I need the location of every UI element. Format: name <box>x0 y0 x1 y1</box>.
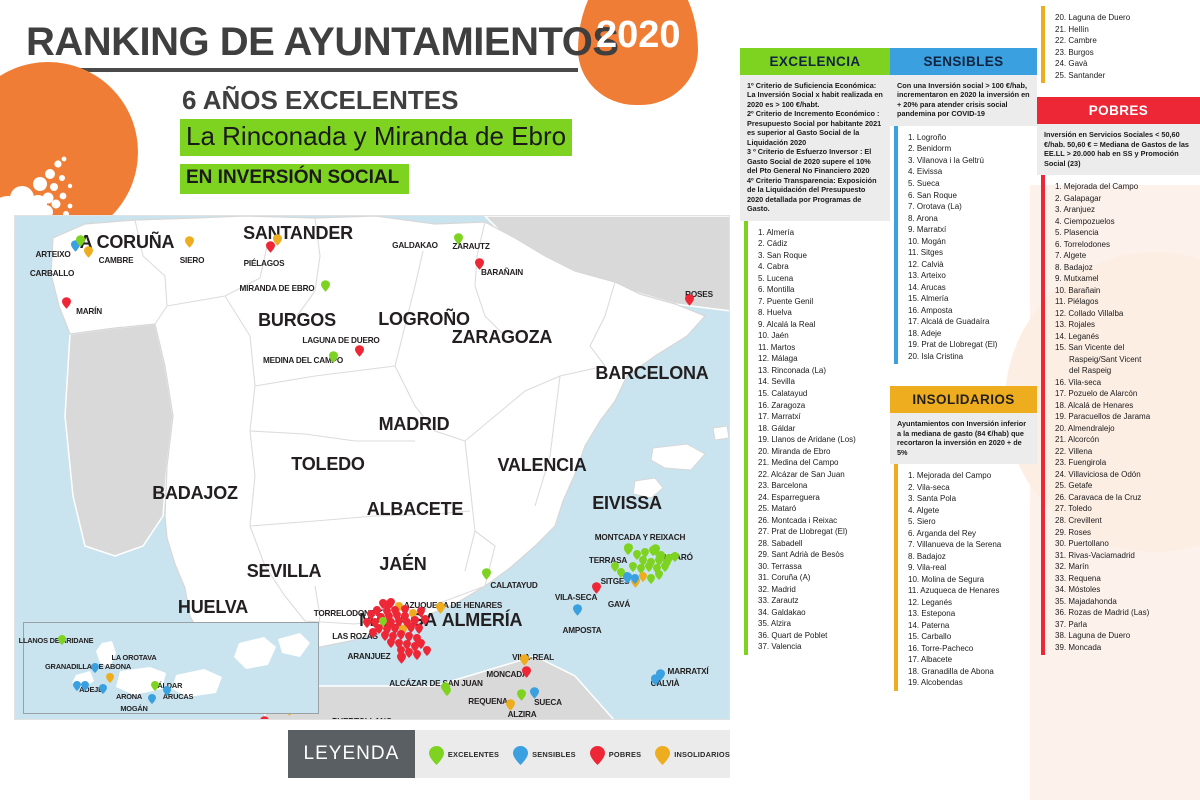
legend-label: EXCELENTES <box>448 750 499 759</box>
map-pin-puertollano <box>366 719 375 720</box>
legend-label: POBRES <box>609 750 641 759</box>
insolidarios-cont-item: 24. Gavà <box>1045 58 1200 70</box>
sensibles-desc-line-0: Con una Inversión social > 100 €/hab, in… <box>897 81 1030 119</box>
pobres-item: 24. Villaviciosa de Odón <box>1045 469 1200 481</box>
insolidarios-cont-item: 20. Laguna de Duero <box>1045 12 1200 24</box>
column-pobres: 20. Laguna de Duero21. Hellín22. Cambre2… <box>1037 0 1200 800</box>
pobres-item: 17. Pozuelo de Alarcón <box>1045 388 1200 400</box>
subtitle-winners: La Rinconada y Miranda de Ebro <box>180 119 572 156</box>
pobres-item: 12. Collado Villalba <box>1045 308 1200 320</box>
sensibles-item: 9. Marratxí <box>898 224 1037 236</box>
excelencia-item: 11. Martos <box>748 342 890 354</box>
excelencia-desc-line-1: 2º Criterio de Incremento Económico : Pr… <box>747 109 883 147</box>
excelencia-item: 28. Sabadell <box>748 538 890 550</box>
map-pin-icon <box>655 746 670 763</box>
pobres-item: 8. Badajoz <box>1045 262 1200 274</box>
insolidarios-item: 2. Vila-seca <box>898 482 1037 494</box>
insolidarios-item: 18. Granadilla de Abona <box>898 666 1037 678</box>
pobres-item: 7. Algete <box>1045 250 1200 262</box>
excelencia-item: 23. Barcelona <box>748 480 890 492</box>
insolidarios-item: 19. Alcobendas <box>898 677 1037 689</box>
excelencia-item: 29. Sant Adrià de Besòs <box>748 549 890 561</box>
excelencia-item: 12. Málaga <box>748 353 890 365</box>
excelencia-item: 25. Mataró <box>748 503 890 515</box>
year-label: 2020 <box>596 14 681 57</box>
canary-labels: LLANOS DE ARIDANEGRANADILLA DE ABONALA O… <box>15 216 730 720</box>
map-label-arona: ARONA <box>116 693 142 701</box>
insolidarios-item: 5. Siero <box>898 516 1037 528</box>
sensibles-item: 13. Arteixo <box>898 270 1037 282</box>
legend-item-insolidarios: INSOLIDARIOS <box>655 746 730 763</box>
sensibles-item: 8. Arona <box>898 213 1037 225</box>
insolidarios-item: 9. Vila-real <box>898 562 1037 574</box>
pobres-item: 9. Mutxamel <box>1045 273 1200 285</box>
pobres-header: POBRES <box>1037 97 1200 124</box>
pobres-item: 33. Requena <box>1045 573 1200 585</box>
insolidarios-item: 7. Villanueva de la Serena <box>898 539 1037 551</box>
excelencia-item: 26. Montcada i Reixac <box>748 515 890 527</box>
pobres-item: 16. Vila-seca <box>1045 377 1200 389</box>
excelencia-item: 30. Terrassa <box>748 561 890 573</box>
excelencia-item: 31. Coruña (A) <box>748 572 890 584</box>
sensibles-item: 3. Vilanova i la Geltrú <box>898 155 1037 167</box>
pobres-item: 35. Majadahonda <box>1045 596 1200 608</box>
insolidarios-item: 1. Mejorada del Campo <box>898 470 1037 482</box>
pobres-item: 29. Roses <box>1045 527 1200 539</box>
insolidarios-cont-item: 25. Santander <box>1045 70 1200 82</box>
title-underline <box>28 68 578 72</box>
sensibles-item: 20. Isla Cristina <box>898 351 1037 363</box>
column-sensibles: SENSIBLES Con una Inversión social > 100… <box>890 0 1037 800</box>
pobres-item: 27. Toledo <box>1045 503 1200 515</box>
legend-title: LEYENDA <box>288 730 415 778</box>
excelencia-item: 18. Gáldar <box>748 423 890 435</box>
map-pin-canary-1 <box>91 663 99 673</box>
insolidarios-cont-item: 21. Hellín <box>1045 24 1200 36</box>
excelencia-item: 27. Prat de Llobregat (El) <box>748 526 890 538</box>
map-pin-canary-4 <box>81 681 89 691</box>
legend-item-excelentes: EXCELENTES <box>429 746 499 763</box>
excelencia-item: 5. Lucena <box>748 273 890 285</box>
pobres-item: 37. Parla <box>1045 619 1200 631</box>
sensibles-list: 1. Logroño2. Benidorm3. Vilanova i la Ge… <box>894 126 1037 364</box>
excelencia-desc-line-3: 4º Criterio Transparencia: Exposición de… <box>747 176 883 214</box>
sensibles-item: 5. Sueca <box>898 178 1037 190</box>
excelencia-item: 2. Cádiz <box>748 238 890 250</box>
insolidarios-item: 14. Paterna <box>898 620 1037 632</box>
excelencia-item: 6. Montilla <box>748 284 890 296</box>
excelencia-item: 16. Zaragoza <box>748 400 890 412</box>
excelencia-item: 33. Zarautz <box>748 595 890 607</box>
insolidarios-item: 11. Azuqueca de Henares <box>898 585 1037 597</box>
insolidarios-desc-line-0: Ayuntamientos con Inversión inferior a l… <box>897 419 1030 457</box>
pobres-item: 21. Alcorcón <box>1045 434 1200 446</box>
insolidarios-list: 1. Mejorada del Campo2. Vila-seca3. Sant… <box>894 464 1037 691</box>
legend-label: SENSIBLES <box>532 750 576 759</box>
insolidarios-item: 4. Algete <box>898 505 1037 517</box>
sensibles-item: 1. Logroño <box>898 132 1037 144</box>
map-label-granadilla-de-abona: GRANADILLA DE ABONA <box>45 663 131 671</box>
pobres-item: 22. Villena <box>1045 446 1200 458</box>
sensibles-item: 14. Arucas <box>898 282 1037 294</box>
subtitle-topic: EN INVERSIÓN SOCIAL <box>180 164 409 194</box>
sensibles-item: 7. Orotava (La) <box>898 201 1037 213</box>
column-excelencia: EXCELENCIA 1º Criterio de Suficiencia Ec… <box>740 0 890 800</box>
map-label-la-orotava: LA OROTAVA <box>112 654 157 662</box>
pobres-item: 11. Piélagos <box>1045 296 1200 308</box>
excelencia-item: 20. Miranda de Ebro <box>748 446 890 458</box>
pobres-item: 6. Torrelodones <box>1045 239 1200 251</box>
excelencia-item: 8. Huelva <box>748 307 890 319</box>
legend-item-sensibles: SENSIBLES <box>513 746 576 763</box>
pobres-item: 31. Rivas-Vaciamadrid <box>1045 550 1200 562</box>
sensibles-item: 2. Benidorm <box>898 143 1037 155</box>
map-pin-icon <box>590 746 605 763</box>
page-title: RANKING DE AYUNTAMIENTOS <box>26 20 619 65</box>
excelencia-item: 3. San Roque <box>748 250 890 262</box>
map-pin-canary-5 <box>99 684 107 694</box>
excelencia-item: 10. Jaén <box>748 330 890 342</box>
sensibles-item: 12. Calvià <box>898 259 1037 271</box>
sensibles-item: 4. Eivissa <box>898 166 1037 178</box>
subtitle-years: 6 AÑOS EXCELENTES <box>182 85 458 116</box>
sensibles-item: 17. Alcalá de Guadaíra <box>898 316 1037 328</box>
pobres-item: 32. Marín <box>1045 561 1200 573</box>
pobres-item: 13. Rojales <box>1045 319 1200 331</box>
insolidarios-item: 3. Santa Pola <box>898 493 1037 505</box>
excelencia-item: 4. Cabra <box>748 261 890 273</box>
excelencia-desc-line-0: 1º Criterio de Suficiencia Económica: La… <box>747 81 883 109</box>
sensibles-item: 10. Mogán <box>898 236 1037 248</box>
sensibles-item: 18. Adeje <box>898 328 1037 340</box>
insolidarios-item: 8. Badajoz <box>898 551 1037 563</box>
insolidarios-cont-item: 22. Cambre <box>1045 35 1200 47</box>
insolidarios-list-continued: 20. Laguna de Duero21. Hellín22. Cambre2… <box>1041 6 1200 83</box>
insolidarios-description: Ayuntamientos con Inversión inferior a l… <box>890 413 1037 464</box>
pobres-item: 15. San Vicente del Raspeig/Sant Vicent … <box>1045 342 1200 377</box>
pobres-item: 4. Ciempozuelos <box>1045 216 1200 228</box>
pobres-item: 39. Moncada <box>1045 642 1200 654</box>
sensibles-item: 19. Prat de Llobregat (El) <box>898 339 1037 351</box>
pobres-item: 36. Rozas de Madrid (Las) <box>1045 607 1200 619</box>
map-legend: LEYENDA EXCELENTESSENSIBLESPOBRESINSOLID… <box>288 730 730 778</box>
excelencia-item: 17. Marratxí <box>748 411 890 423</box>
map-pin-canary-7 <box>163 686 171 696</box>
map-label-mog-n: MOGÁN <box>120 705 147 713</box>
sensibles-item: 6. San Roque <box>898 190 1037 202</box>
legend-item-pobres: POBRES <box>590 746 641 763</box>
pobres-item: 34. Móstoles <box>1045 584 1200 596</box>
excelencia-item: 13. Rinconada (La) <box>748 365 890 377</box>
map-pin-canary-2 <box>106 673 114 683</box>
excelencia-desc-line-2: 3 º Criterio de Esfuerzo Inversor : El G… <box>747 147 883 175</box>
sensibles-item: 11. Sitges <box>898 247 1037 259</box>
pobres-item: 20. Almendralejo <box>1045 423 1200 435</box>
excelencia-item: 32. Madrid <box>748 584 890 596</box>
pobres-item: 38. Laguna de Duero <box>1045 630 1200 642</box>
excelencia-item: 24. Esparreguera <box>748 492 890 504</box>
excelencia-description: 1º Criterio de Suficiencia Económica: La… <box>740 75 890 221</box>
map-pin-icon <box>513 746 528 763</box>
pobres-description: Inversión en Servicios Sociales < 50,60 … <box>1037 124 1200 175</box>
insolidarios-cont-item: 23. Burgos <box>1045 47 1200 59</box>
map-pin-canary-6 <box>151 681 159 691</box>
spain-map[interactable]: A CORUÑA SANTANDER BURGOS LOGROÑO ZARAGO… <box>14 215 730 720</box>
pobres-item: 30. Puertollano <box>1045 538 1200 550</box>
excelencia-item: 14. Sevilla <box>748 376 890 388</box>
pobres-item: 26. Caravaca de la Cruz <box>1045 492 1200 504</box>
pobres-item: 2. Galapagar <box>1045 193 1200 205</box>
sensibles-item: 16. Amposta <box>898 305 1037 317</box>
excelencia-item: 37. Valencia <box>748 641 890 653</box>
map-pin-canary-8 <box>148 694 156 704</box>
excelencia-item: 22. Alcázar de San Juan <box>748 469 890 481</box>
excelencia-header: EXCELENCIA <box>740 48 890 75</box>
insolidarios-item: 10. Molina de Segura <box>898 574 1037 586</box>
excelencia-item: 34. Galdakao <box>748 607 890 619</box>
pobres-desc-line-0: Inversión en Servicios Sociales < 50,60 … <box>1044 130 1193 168</box>
excelencia-item: 35. Alzira <box>748 618 890 630</box>
insolidarios-item: 16. Torre-Pacheco <box>898 643 1037 655</box>
pobres-item: 25. Getafe <box>1045 480 1200 492</box>
pobres-item: 23. Fuengirola <box>1045 457 1200 469</box>
insolidarios-item: 17. Albacete <box>898 654 1037 666</box>
pobres-item: 10. Barañain <box>1045 285 1200 297</box>
excelencia-item: 36. Quart de Poblet <box>748 630 890 642</box>
legend-items: EXCELENTESSENSIBLESPOBRESINSOLIDARIOS <box>415 746 730 763</box>
pobres-item: 18. Alcalá de Henares <box>1045 400 1200 412</box>
insolidarios-item: 6. Arganda del Rey <box>898 528 1037 540</box>
pobres-item: 5. Plasencia <box>1045 227 1200 239</box>
pobres-item: 3. Aranjuez <box>1045 204 1200 216</box>
map-pin-canary-0 <box>58 635 66 645</box>
excelencia-item: 1. Almería <box>748 227 890 239</box>
map-label-llanos-de-aridane: LLANOS DE ARIDANE <box>19 637 94 645</box>
pobres-item: 1. Mejorada del Campo <box>1045 181 1200 193</box>
excelencia-item: 9. Alcalá la Real <box>748 319 890 331</box>
excelencia-item: 15. Calatayud <box>748 388 890 400</box>
excelencia-item: 21. Medina del Campo <box>748 457 890 469</box>
legend-label: INSOLIDARIOS <box>674 750 730 759</box>
pobres-item: 28. Crevillent <box>1045 515 1200 527</box>
map-pin-icon <box>429 746 444 763</box>
excelencia-list: 1. Almería2. Cádiz3. San Roque4. Cabra5.… <box>744 221 890 655</box>
pobres-item: 14. Leganés <box>1045 331 1200 343</box>
sensibles-item: 15. Almería <box>898 293 1037 305</box>
sensibles-description: Con una Inversión social > 100 €/hab, in… <box>890 75 1037 126</box>
pobres-item: 19. Paracuellos de Jarama <box>1045 411 1200 423</box>
excelencia-item: 19. Llanos de Aridane (Los) <box>748 434 890 446</box>
insolidarios-item: 12. Leganés <box>898 597 1037 609</box>
insolidarios-header: INSOLIDARIOS <box>890 386 1037 413</box>
map-pin-canary-3 <box>73 681 81 691</box>
pobres-list: 1. Mejorada del Campo2. Galapagar3. Aran… <box>1041 175 1200 655</box>
excelencia-item: 7. Puente Genil <box>748 296 890 308</box>
insolidarios-item: 15. Carballo <box>898 631 1037 643</box>
insolidarios-item: 13. Estepona <box>898 608 1037 620</box>
sensibles-header: SENSIBLES <box>890 48 1037 75</box>
